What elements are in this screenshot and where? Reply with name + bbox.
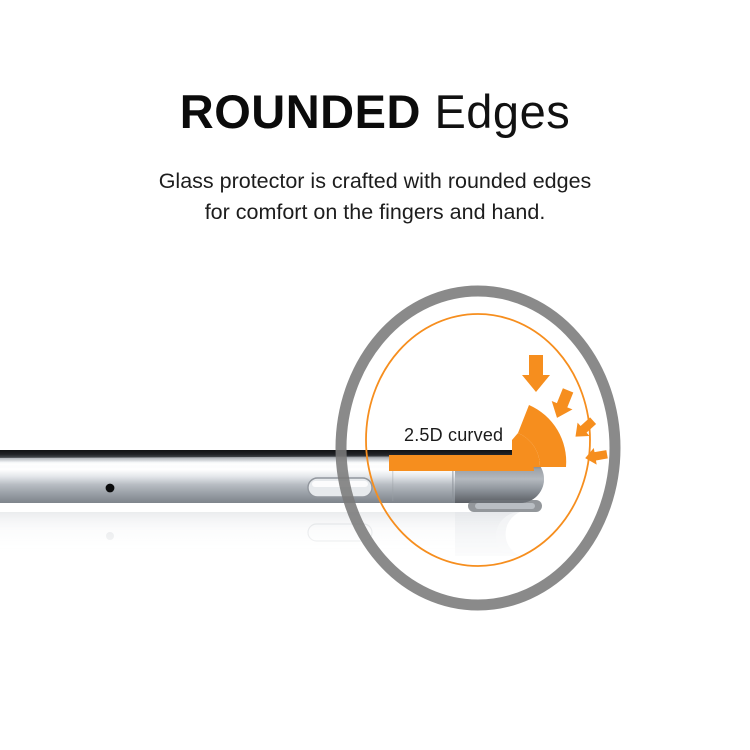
product-feature-image: ROUNDED Edges Glass protector is crafted… [0, 0, 750, 750]
pressure-arrow-2-icon [547, 386, 579, 422]
reflection-body [0, 512, 520, 560]
product-illustration: 2.5D curved [0, 0, 750, 750]
phone-reflection-icon [0, 512, 520, 560]
microphone-hole-icon [106, 484, 115, 493]
pressure-arrow-3-icon [569, 414, 599, 443]
reflection-mic-hole [106, 532, 114, 540]
reflection-cap [455, 512, 520, 556]
phone-bottom-detail-gloss [475, 503, 535, 509]
pressure-arrow-1-icon [522, 355, 550, 392]
callout-label: 2.5D curved [404, 425, 503, 446]
